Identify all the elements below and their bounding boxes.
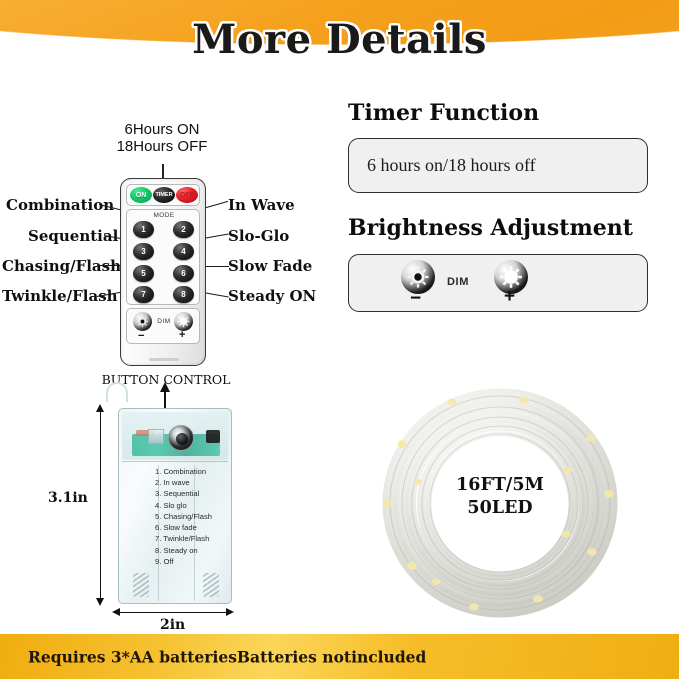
- battery-spring-b: [203, 573, 219, 597]
- banner-wave-edge: [0, 68, 679, 96]
- remote-off-button[interactable]: OFF: [176, 187, 198, 203]
- timer-callout-line1: 6Hours ON: [62, 122, 262, 139]
- black-chip: [206, 430, 220, 443]
- battery-case: 1. Combination 2. In wave 3. Sequential …: [118, 408, 232, 604]
- battery-mode-list: 1. Combination 2. In wave 3. Sequential …: [155, 466, 212, 567]
- battery-box-diagram: 3.1in 2in 1. Combination 2. In wave 3. S…: [60, 392, 340, 627]
- remote-button-5[interactable]: 5: [133, 265, 154, 282]
- right-info-panel: Timer Function 6 hours on/18 hours off B…: [348, 100, 648, 312]
- mode-item: 9. Off: [155, 556, 212, 567]
- led-wire-coil: 16FT/5M 50LED: [378, 386, 622, 620]
- mode-item: 1. Combination: [155, 466, 212, 477]
- remote-mode-label: MODE: [121, 212, 207, 219]
- remote-control-diagram: 6Hours ON 18Hours OFF Combination Sequen…: [0, 96, 340, 396]
- wire-length-text: 16FT/5M: [378, 474, 622, 497]
- leader-line-slow-fade: [203, 266, 229, 267]
- remote-button-3[interactable]: 3: [133, 243, 154, 260]
- bottom-banner: Requires 3*AA batteriesBatteries notincl…: [0, 634, 679, 679]
- mode-item: 6. Slow fade: [155, 522, 212, 533]
- battery-divider: [122, 461, 228, 462]
- battery-pointer-arrow: [160, 382, 170, 392]
- remote-foot-detail: [149, 358, 179, 361]
- brightness-minus-sign: −: [410, 288, 421, 310]
- battery-hanging-loop: [106, 382, 128, 402]
- ir-receiver-icon: [168, 425, 194, 451]
- remote-button-4[interactable]: 4: [173, 243, 194, 260]
- height-dimension-line: [100, 408, 101, 604]
- battery-requirement-note: Requires 3*AA batteriesBatteries notincl…: [28, 647, 426, 666]
- remote-body: ON TIMER OFF MODE 1 2 3 4 5 6 7 8: [120, 178, 206, 366]
- label-slow-fade: Slow Fade: [228, 257, 312, 275]
- wire-led-count-text: 50LED: [378, 497, 622, 520]
- mode-item: 7. Twinkle/Flash: [155, 533, 212, 544]
- height-arrow-down: [96, 598, 104, 606]
- remote-timer-button[interactable]: TIMER: [153, 187, 175, 203]
- mode-item: 2. In wave: [155, 477, 212, 488]
- wire-spec-text: 16FT/5M 50LED: [378, 474, 622, 520]
- mode-item: 5. Chasing/Flash: [155, 511, 212, 522]
- remote-button-7[interactable]: 7: [133, 286, 154, 303]
- remote-button-8[interactable]: 8: [173, 286, 194, 303]
- battery-height-label: 3.1in: [48, 490, 88, 506]
- mode-item: 4. Slo glo: [155, 500, 212, 511]
- battery-width-label: 2in: [160, 617, 185, 633]
- leader-line-steady-on: [203, 292, 229, 298]
- brightness-adjustment-title: Brightness Adjustment: [348, 215, 648, 241]
- width-arrow-left: [112, 608, 120, 616]
- timer-value-box: 6 hours on/18 hours off: [348, 138, 648, 193]
- battery-top-compartment: [122, 412, 228, 460]
- width-arrow-right: [226, 608, 234, 616]
- battery-spring-clip: [148, 429, 164, 444]
- timer-callout-line2: 18Hours OFF: [62, 139, 262, 156]
- brightness-control-box: DIM − +: [348, 254, 648, 312]
- leader-line-slo-glo: [203, 233, 229, 239]
- remote-plus-sign: +: [179, 329, 185, 341]
- callout-stem: [162, 164, 164, 178]
- brightness-dim-label: DIM: [447, 276, 469, 288]
- label-in-wave: In Wave: [228, 196, 295, 214]
- sun-dim-icon: [406, 265, 430, 289]
- remote-button-2[interactable]: 2: [173, 221, 194, 238]
- width-dimension-line: [118, 612, 232, 613]
- product-detail-page: More Details 6Hours ON 18Hours OFF Combi…: [0, 0, 679, 679]
- remote-button-6[interactable]: 6: [173, 265, 194, 282]
- leader-line-in-wave: [203, 201, 228, 210]
- brightness-plus-sign: +: [504, 286, 515, 308]
- remote-minus-sign: −: [138, 330, 144, 342]
- timer-value-text: 6 hours on/18 hours off: [367, 155, 536, 176]
- height-arrow-up: [96, 404, 104, 412]
- page-title: More Details: [0, 16, 679, 63]
- timer-function-title: Timer Function: [348, 100, 648, 126]
- label-steady-on: Steady ON: [228, 287, 316, 305]
- remote-on-button[interactable]: ON: [130, 187, 152, 203]
- mode-item: 8. Steady on: [155, 545, 212, 556]
- remote-button-1[interactable]: 1: [133, 221, 154, 238]
- remote-dim-label: DIM: [121, 318, 207, 325]
- battery-spring-a: [133, 573, 149, 597]
- mode-item: 3. Sequential: [155, 488, 212, 499]
- timer-callout: 6Hours ON 18Hours OFF: [62, 122, 262, 156]
- label-slo-glo: Slo-Glo: [228, 227, 289, 245]
